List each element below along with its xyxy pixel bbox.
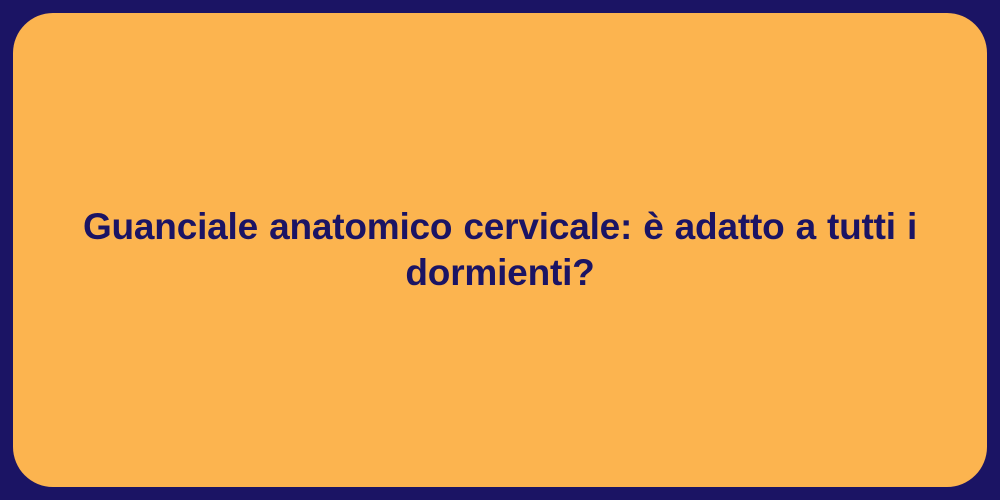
page-frame: Guanciale anatomico cervicale: è adatto …	[0, 0, 1000, 500]
card-title: Guanciale anatomico cervicale: è adatto …	[52, 204, 948, 297]
title-card: Guanciale anatomico cervicale: è adatto …	[13, 13, 987, 487]
